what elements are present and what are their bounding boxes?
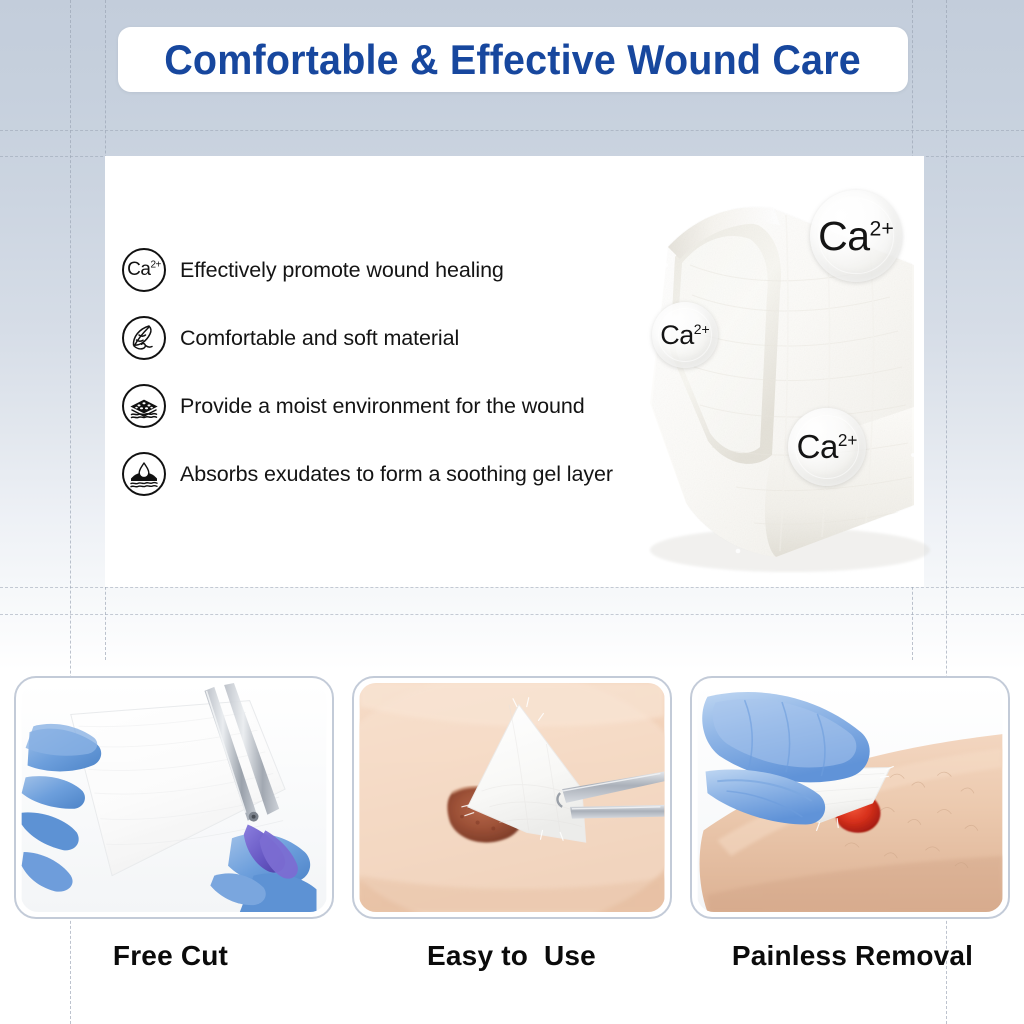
easy-to-use-photo [352, 676, 672, 919]
feature-item: Comfortable and soft material [122, 304, 682, 372]
photo-inner [697, 683, 1003, 912]
feature-label: Provide a moist environment for the woun… [180, 394, 585, 419]
feather-icon [122, 316, 166, 360]
water-droplet-icon [122, 452, 166, 496]
feature-label: Absorbs exudates to form a soothing gel … [180, 462, 613, 487]
feature-item: Provide a moist environment for the woun… [122, 372, 682, 440]
guide-line-horizontal [0, 130, 1024, 131]
panel-captions: Free Cut Easy to Use Painless Removal [0, 940, 1024, 972]
title-banner: Comfortable & Effective Wound Care [118, 27, 908, 92]
calcium-ion-icon-label: Ca2+ [127, 259, 161, 281]
caption-painless-removal: Painless Removal [682, 940, 1023, 972]
caption-free-cut: Free Cut [0, 940, 341, 972]
infographic-page: Comfortable & Effective Wound Care [0, 0, 1024, 1024]
calcium-ion-icon: Ca2+ [122, 248, 166, 292]
page-title: Comfortable & Effective Wound Care [165, 36, 862, 84]
feature-item: Ca2+ Effectively promote wound healing [122, 236, 682, 304]
photo-inner [21, 683, 327, 912]
photo-inner [359, 683, 665, 912]
caption-easy-to-use: Easy to Use [341, 940, 682, 972]
feature-label: Comfortable and soft material [180, 326, 459, 351]
feature-label: Effectively promote wound healing [180, 258, 504, 283]
moist-pad-icon [122, 384, 166, 428]
guide-line-horizontal [0, 614, 1024, 615]
free-cut-photo [14, 676, 334, 919]
feature-item: Absorbs exudates to form a soothing gel … [122, 440, 682, 508]
guide-line-horizontal [0, 587, 1024, 588]
feature-list: Ca2+ Effectively promote wound healing C… [122, 236, 682, 508]
photo-panels [0, 676, 1024, 936]
painless-removal-photo [690, 676, 1010, 919]
